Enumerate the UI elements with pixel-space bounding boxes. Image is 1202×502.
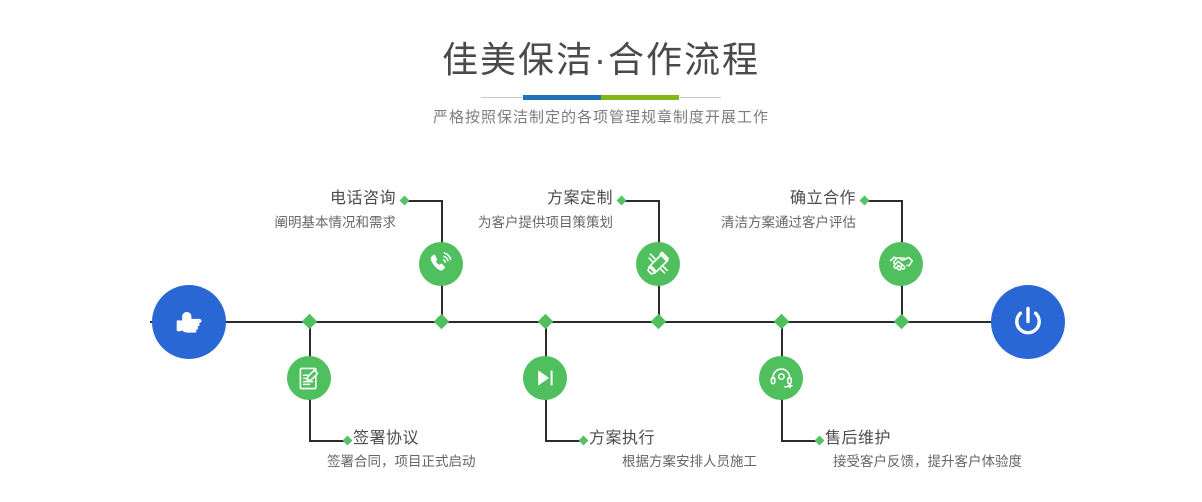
label-bullet-step-3 — [617, 196, 627, 206]
step-desc-step-6: 接受客户反馈，提升客户体验度 — [833, 452, 1123, 472]
step-title-step-4: 方案执行 — [589, 428, 819, 450]
pointing-hand-icon — [169, 302, 209, 342]
axis-marker-step-4 — [538, 314, 554, 330]
divider-segment-green — [601, 95, 679, 100]
step-icon-step-5 — [879, 242, 923, 286]
step-desc-step-5: 清洁方案通过客户评估 — [581, 213, 856, 233]
page-subtitle: 严格按照保洁制定的各项管理规章制度开展工作 — [0, 107, 1202, 129]
customer-service-icon — [769, 366, 794, 391]
pencil-ruler-icon — [645, 251, 671, 277]
axis-marker-step-1 — [434, 314, 450, 330]
axis-marker-step-5 — [894, 314, 910, 330]
step-title-step-5: 确立合作 — [661, 188, 856, 210]
axis-marker-step-3 — [651, 314, 667, 330]
step-desc-step-3: 为客户提供项目策策划 — [338, 213, 613, 233]
axis-marker-step-2 — [302, 314, 318, 330]
page-title: 佳美保洁·合作流程 — [0, 38, 1202, 82]
step-title-step-2: 签署协议 — [353, 428, 583, 450]
handshake-icon — [888, 251, 915, 278]
label-bullet-step-2 — [343, 436, 353, 446]
label-bullet-step-1 — [400, 196, 410, 206]
phone-call-icon — [428, 251, 454, 277]
title-divider — [481, 95, 721, 100]
step-icon-step-3 — [636, 242, 680, 286]
step-title-step-1: 电话咨询 — [201, 188, 396, 210]
label-bullet-step-5 — [860, 196, 870, 206]
flowchart-infographic: 佳美保洁·合作流程 严格按照保洁制定的各项管理规章制度开展工作 — [0, 0, 1202, 502]
step-title-step-6: 售后维护 — [825, 428, 1055, 450]
step-desc-step-2: 签署合同，项目正式启动 — [327, 452, 607, 472]
start-node — [152, 285, 226, 359]
step-icon-step-1 — [419, 242, 463, 286]
step-title-step-3: 方案定制 — [418, 188, 613, 210]
step-icon-step-4 — [523, 356, 567, 400]
axis-marker-step-6 — [774, 314, 790, 330]
document-edit-icon — [297, 366, 322, 391]
power-icon — [1007, 301, 1049, 343]
timeline-axis — [150, 321, 1052, 323]
play-execute-icon — [533, 366, 557, 390]
finish-node — [991, 285, 1065, 359]
step-icon-step-6 — [759, 356, 803, 400]
divider-segment-blue — [523, 95, 601, 100]
step-icon-step-2 — [287, 356, 331, 400]
